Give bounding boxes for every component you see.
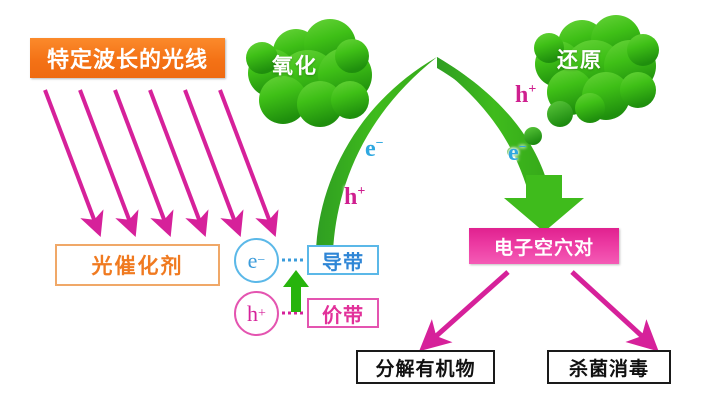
magenta-arrow-icon-left (434, 272, 508, 338)
symbol-glyph: e (508, 140, 519, 166)
symbol-charge: − (519, 140, 527, 155)
green-up-arrow-icon (283, 270, 309, 312)
light-source-label: 特定波长的光线 (30, 38, 225, 78)
light-ray-arrows-icon (45, 90, 270, 222)
electron-hole-pair-label: 电子空穴对 (469, 228, 619, 264)
electron-circle: e− (234, 238, 279, 283)
oxidation-cloud-label: 氧化 (272, 50, 318, 80)
photocatalyst-label: 光催化剂 (55, 244, 220, 286)
reduction-cloud-label: 还原 (557, 44, 603, 74)
arc-left-hole-symbol: h+ (344, 184, 365, 211)
hole-circle: h+ (234, 291, 279, 336)
arc-left-electron-symbol: e− (365, 136, 384, 163)
arc-right-electron-symbol: e− (508, 140, 527, 167)
symbol-charge: + (528, 82, 536, 97)
symbol-glyph: h (515, 82, 528, 108)
hole-circle-symbol: h (247, 301, 258, 327)
output-decompose-organics-label: 分解有机物 (356, 350, 495, 384)
output-sterilize-label: 杀菌消毒 (547, 350, 671, 384)
green-dot-icon-large (547, 101, 573, 127)
arc-right-hole-symbol: h+ (515, 82, 536, 109)
magenta-arrow-icon-right (572, 272, 644, 338)
symbol-charge: − (376, 136, 384, 151)
symbol-charge: + (357, 184, 365, 199)
conduction-band-label: 导带 (307, 245, 379, 275)
diagram-canvas: 特定波长的光线 光催化剂 导带 价带 电子空穴对 分解有机物 杀菌消毒 氧化 还… (0, 0, 706, 402)
symbol-glyph: e (365, 136, 376, 162)
electron-circle-symbol: e (248, 248, 258, 274)
symbol-glyph: h (344, 184, 357, 210)
valence-band-label: 价带 (307, 298, 379, 328)
